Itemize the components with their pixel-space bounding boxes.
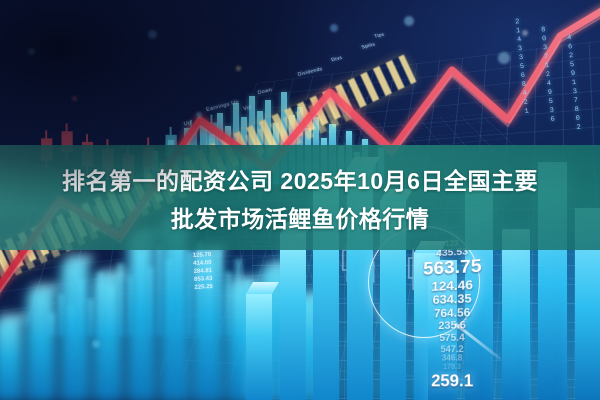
corner-vignette	[0, 0, 600, 400]
cover-image: SplitsDividendsDivsEarnings UpDownUpTips…	[0, 0, 600, 400]
